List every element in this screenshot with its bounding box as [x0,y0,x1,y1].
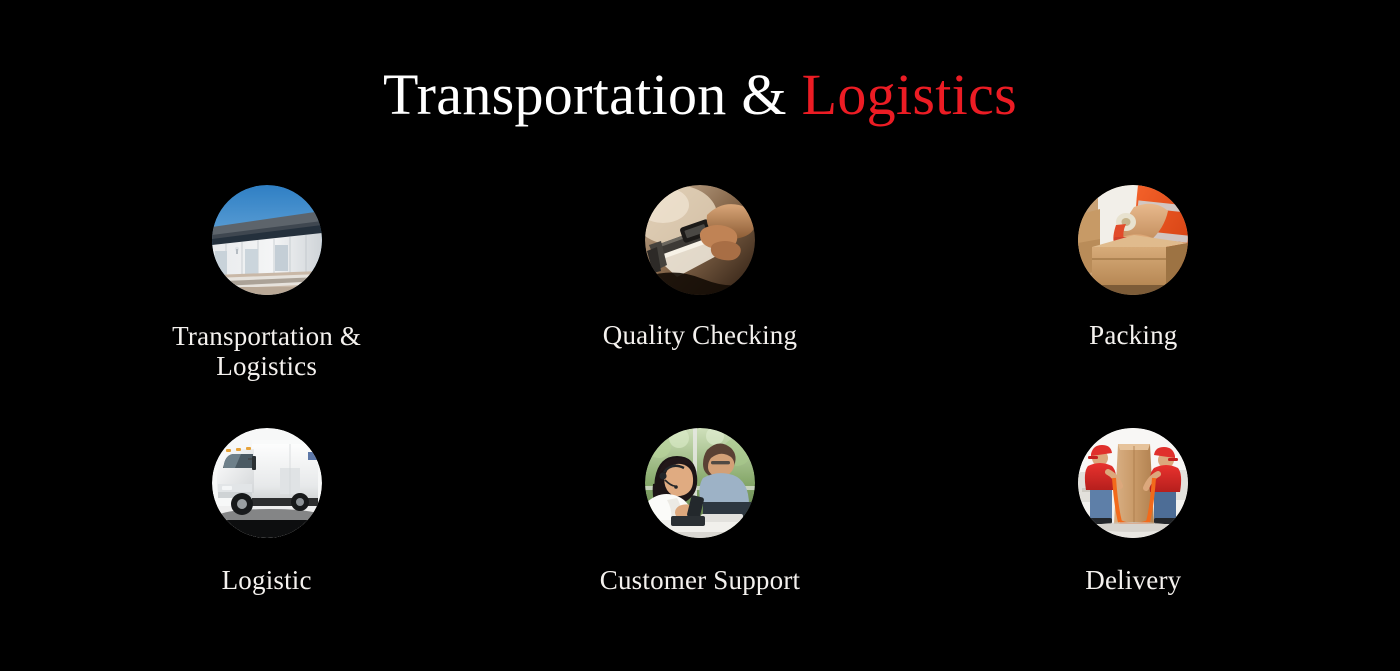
caliper-measuring-photo [645,185,755,295]
page-title: Transportation & Logistics [0,60,1400,130]
service-label: Packing [1089,321,1177,350]
page-title-accent: Logistics [802,62,1017,127]
service-item-transportation-logistics[interactable]: Transportation & Logistics [50,185,483,428]
service-item-quality-checking[interactable]: Quality Checking [483,185,916,428]
service-label: Delivery [1085,566,1181,595]
service-label-line-1: Transportation & [172,321,361,351]
service-label: Quality Checking [603,321,797,350]
service-grid: Transportation & Logistics [50,185,1350,671]
service-label: Logistic [222,566,312,595]
service-label-line-2: Logistics [216,351,317,381]
service-item-customer-support[interactable]: Customer Support [483,428,916,671]
warehouse-building-photo [212,185,322,295]
box-truck-photo [212,428,322,538]
deliverymen-carrying-box-photo [1078,428,1188,538]
service-label: Transportation & Logistics [172,321,361,381]
service-item-packing[interactable]: Packing [917,185,1350,428]
service-item-delivery[interactable]: Delivery [917,428,1350,671]
service-item-logistic[interactable]: Logistic [50,428,483,671]
service-label: Customer Support [600,566,800,595]
page-title-primary: Transportation & [383,62,787,127]
worker-taping-box-photo [1078,185,1188,295]
headset-agents-photo [645,428,755,538]
